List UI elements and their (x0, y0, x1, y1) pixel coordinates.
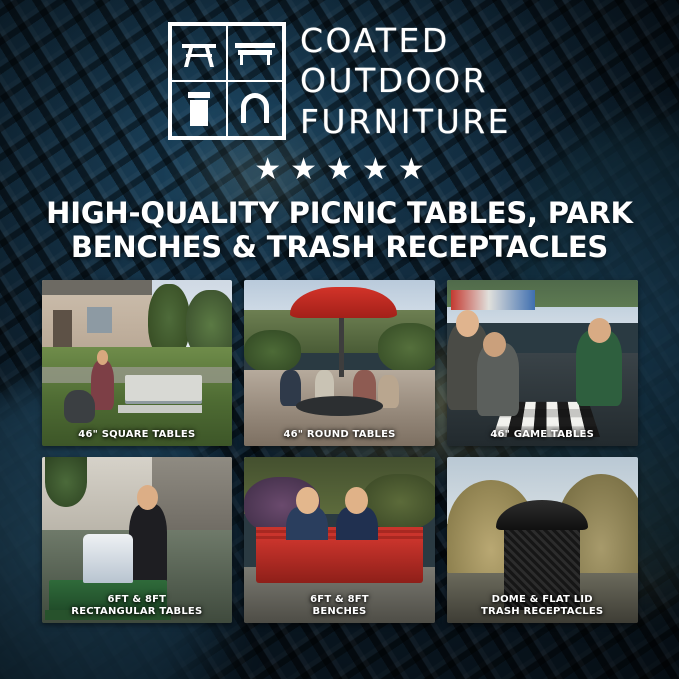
tile-caption-line-1: 6FT & 8FT (247, 594, 432, 606)
logo-icon-grid (168, 22, 286, 140)
picnic-table-icon (171, 25, 227, 81)
tile-caption: 46" ROUND TABLES (244, 425, 435, 447)
brand-wordmark: COATED OUTDOOR FURNITURE (300, 22, 511, 141)
product-photo-grid: 46" SQUARE TABLES (42, 280, 638, 623)
product-tile-square-tables[interactable]: 46" SQUARE TABLES (42, 280, 233, 446)
tile-caption-line-2: TRASH RECEPTACLES (450, 606, 635, 618)
trash-receptacle-icon (171, 81, 227, 137)
tile-caption: DOME & FLAT LID TRASH RECEPTACLES (447, 590, 638, 623)
product-tile-trash-receptacles[interactable]: DOME & FLAT LID TRASH RECEPTACLES (447, 457, 638, 623)
tile-caption-line-1: DOME & FLAT LID (450, 594, 635, 606)
brand-logo: COATED OUTDOOR FURNITURE (168, 22, 511, 141)
tile-caption-line-1: 46" GAME TABLES (450, 429, 635, 441)
headline: HIGH-QUALITY PICNIC TABLES, PARK BENCHES… (40, 196, 640, 264)
photo-round-tables (244, 280, 435, 446)
product-tile-round-tables[interactable]: 46" ROUND TABLES (244, 280, 435, 446)
tile-caption-line-1: 46" SQUARE TABLES (45, 429, 230, 441)
tile-caption: 6FT & 8FT RECTANGULAR TABLES (42, 590, 233, 623)
brand-word-1: COATED (300, 22, 511, 60)
product-tile-benches[interactable]: 6FT & 8FT BENCHES (244, 457, 435, 623)
product-tile-rectangular-tables[interactable]: 6FT & 8FT RECTANGULAR TABLES (42, 457, 233, 623)
star-icon: ★ (290, 155, 317, 185)
tile-caption: 6FT & 8FT BENCHES (244, 590, 435, 623)
star-icon: ★ (326, 155, 353, 185)
tile-caption: 46" SQUARE TABLES (42, 425, 233, 447)
star-icon: ★ (398, 155, 425, 185)
star-icon: ★ (362, 155, 389, 185)
tile-caption: 46" GAME TABLES (447, 425, 638, 447)
tile-caption-line-1: 46" ROUND TABLES (247, 429, 432, 441)
tile-caption-line-2: RECTANGULAR TABLES (45, 606, 230, 618)
arch-shelter-icon (227, 81, 283, 137)
park-bench-icon (227, 25, 283, 81)
brand-word-2: OUTDOOR (300, 62, 511, 100)
product-banner: COATED OUTDOOR FURNITURE ★ ★ ★ ★ ★ HIGH-… (0, 0, 679, 679)
brand-word-3: FURNITURE (300, 103, 511, 141)
product-tile-game-tables[interactable]: 46" GAME TABLES (447, 280, 638, 446)
poster-content: COATED OUTDOOR FURNITURE ★ ★ ★ ★ ★ HIGH-… (0, 0, 679, 679)
photo-square-tables (42, 280, 233, 446)
star-rating: ★ ★ ★ ★ ★ (254, 155, 425, 185)
star-icon: ★ (254, 155, 281, 185)
headline-line-1: HIGH-QUALITY PICNIC TABLES, PARK (40, 196, 640, 230)
tile-caption-line-2: BENCHES (247, 606, 432, 618)
headline-line-2: BENCHES & TRASH RECEPTACLES (40, 230, 640, 264)
tile-caption-line-1: 6FT & 8FT (45, 594, 230, 606)
photo-game-tables (447, 280, 638, 446)
